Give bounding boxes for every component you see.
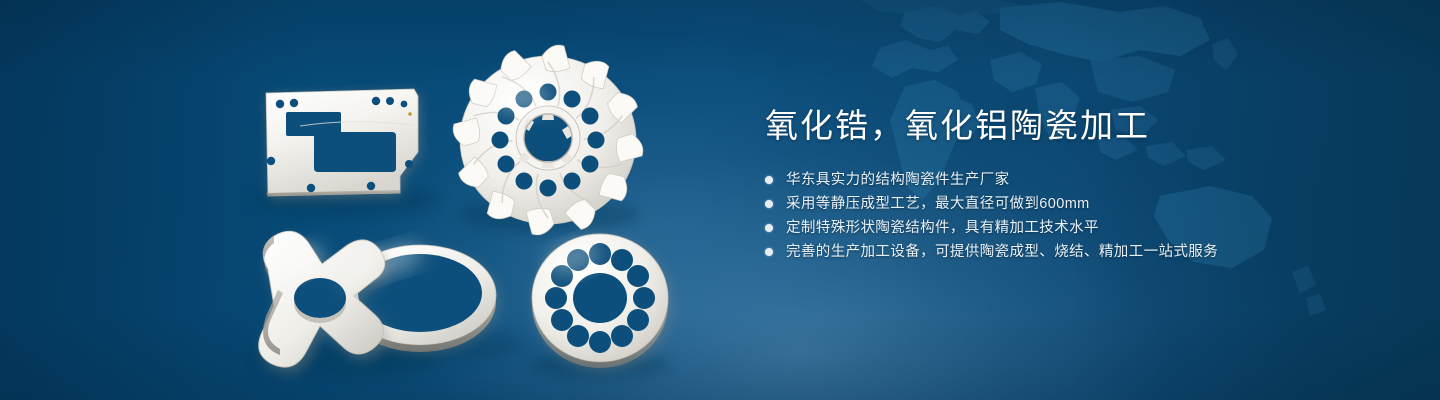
list-item: 采用等静压成型工艺，最大直径可做到600mm [765, 192, 1385, 216]
feature-text: 采用等静压成型工艺，最大直径可做到600mm [786, 192, 1090, 216]
list-item: 定制特殊形状陶瓷结构件，具有精加工技术水平 [765, 216, 1385, 240]
feature-list: 华东具实力的结构陶瓷件生产厂家 采用等静压成型工艺，最大直径可做到600mm 定… [765, 168, 1385, 264]
product-photo-cluster [0, 0, 740, 400]
list-item: 完善的生产加工设备，可提供陶瓷成型、烧结、精加工一站式服务 [765, 240, 1385, 264]
bullet-dot-icon [765, 176, 773, 184]
ceramic-machined-plate [266, 89, 420, 199]
feature-text: 华东具实力的结构陶瓷件生产厂家 [786, 168, 1010, 192]
ceramic-perforated-disc [532, 234, 673, 370]
bullet-dot-icon [765, 224, 773, 232]
page-title: 氧化锆，氧化铝陶瓷加工 [765, 104, 1385, 148]
banner-copy: 氧化锆，氧化铝陶瓷加工 华东具实力的结构陶瓷件生产厂家 采用等静压成型工艺，最大… [765, 104, 1385, 264]
bullet-dot-icon [765, 248, 773, 256]
feature-text: 定制特殊形状陶瓷结构件，具有精加工技术水平 [786, 216, 1099, 240]
list-item: 华东具实力的结构陶瓷件生产厂家 [765, 168, 1385, 192]
hero-banner: 氧化锆，氧化铝陶瓷加工 华东具实力的结构陶瓷件生产厂家 采用等静压成型工艺，最大… [0, 0, 1440, 400]
feature-text: 完善的生产加工设备，可提供陶瓷成型、烧结、精加工一站式服务 [786, 240, 1218, 264]
bullet-dot-icon [765, 200, 773, 208]
